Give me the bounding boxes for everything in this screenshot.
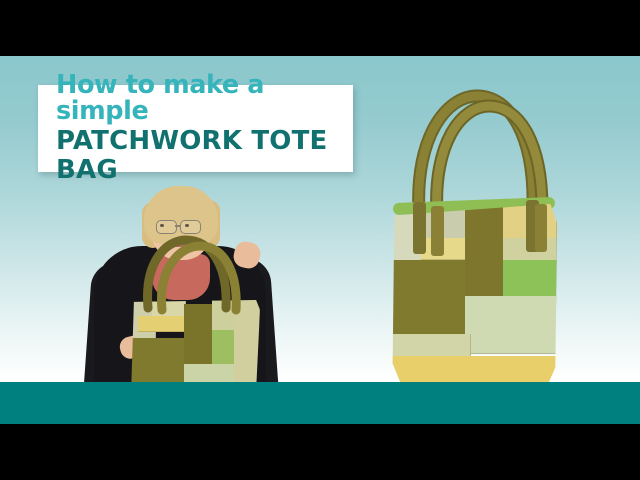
letterbox-bottom-bar: [0, 424, 640, 480]
patchwork-tote-bag: [385, 84, 563, 396]
letterbox-top-bar: [0, 0, 640, 56]
presenter-woman: [86, 188, 276, 392]
title-line-1: How to make a simple: [56, 72, 353, 126]
title-line-2: PATCHWORK TOTE BAG: [56, 127, 353, 185]
tote-handle-tails-icon: [385, 84, 563, 396]
floor-band: [0, 382, 640, 424]
title-card: How to make a simple PATCHWORK TOTE BAG: [38, 85, 353, 172]
video-frame: How to make a simple PATCHWORK TOTE BAG: [0, 0, 640, 480]
video-scene: How to make a simple PATCHWORK TOTE BAG: [0, 56, 640, 424]
held-tote-handles-icon: [86, 188, 276, 392]
